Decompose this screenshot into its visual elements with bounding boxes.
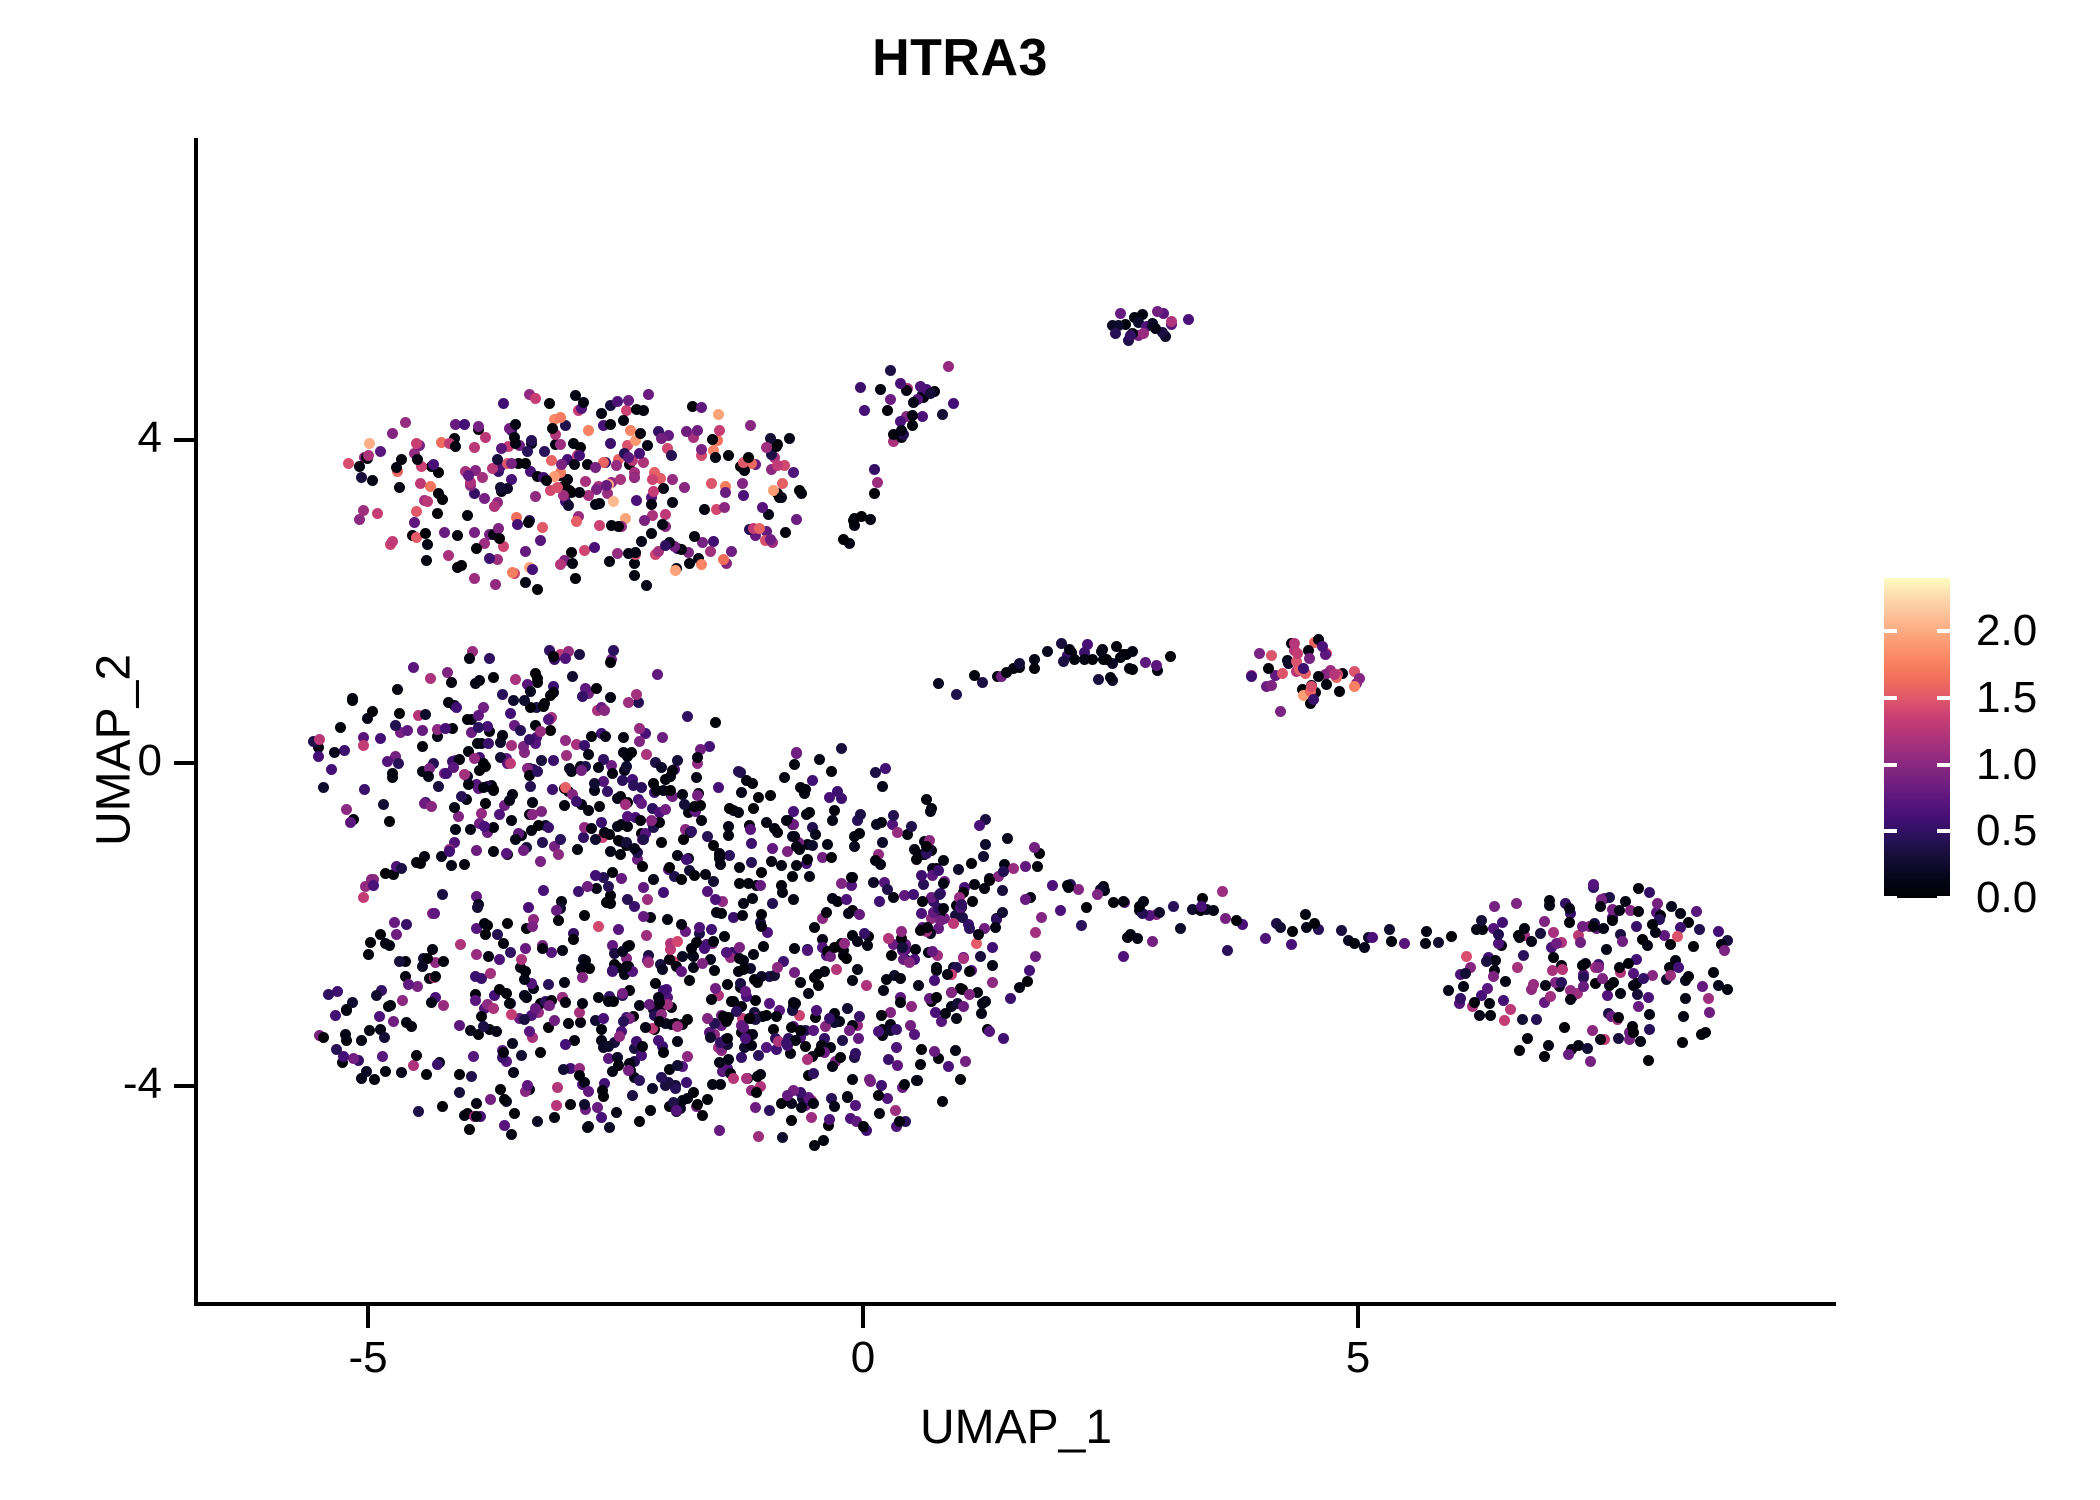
scatter-point [1628, 1027, 1639, 1038]
scatter-point [802, 945, 813, 956]
scatter-point [1175, 923, 1186, 934]
scatter-point [459, 769, 470, 780]
scatter-point [636, 536, 647, 547]
scatter-point [537, 943, 548, 954]
scatter-point [679, 482, 690, 493]
scatter-point [422, 539, 433, 550]
scatter-point [980, 839, 991, 850]
scatter-point [734, 862, 745, 873]
scatter-point [877, 781, 888, 792]
scatter-point [618, 1016, 629, 1027]
scatter-point [666, 450, 677, 461]
scatter-point [660, 540, 671, 551]
scatter-point [592, 1102, 603, 1113]
scatter-point [733, 807, 744, 818]
scatter-point [1565, 994, 1576, 1005]
scatter-point [648, 486, 659, 497]
scatter-point [767, 843, 778, 854]
scatter-point [559, 977, 570, 988]
scatter-point [598, 1091, 609, 1102]
scatter-point [1096, 646, 1107, 657]
scatter-point [433, 781, 444, 792]
scatter-point [1260, 933, 1271, 944]
scatter-point [847, 1074, 858, 1085]
colorbar-tick [1937, 629, 1950, 633]
scatter-point [646, 528, 657, 539]
scatter-point [574, 649, 585, 660]
y-tick-mark [174, 1084, 196, 1088]
scatter-point [875, 384, 886, 395]
scatter-point [568, 934, 579, 945]
scatter-point [710, 717, 721, 728]
scatter-point [648, 874, 659, 885]
scatter-point [1058, 656, 1069, 667]
scatter-point [736, 787, 747, 798]
scatter-point [471, 949, 482, 960]
scatter-point [948, 398, 959, 409]
scatter-point [795, 977, 806, 988]
scatter-point [906, 821, 917, 832]
scatter-point [940, 1008, 951, 1019]
scatter-point [509, 1108, 520, 1119]
scatter-point [691, 772, 702, 783]
scatter-point [450, 441, 461, 452]
scatter-point [824, 1114, 835, 1125]
scatter-point [1029, 663, 1040, 674]
scatter-point [510, 419, 521, 430]
scatter-point [789, 759, 800, 770]
scatter-point [437, 494, 448, 505]
scatter-point [605, 692, 616, 703]
scatter-point [408, 662, 419, 673]
scatter-point [869, 464, 880, 475]
scatter-point [379, 1032, 390, 1043]
scatter-point [555, 834, 566, 845]
scatter-point [473, 710, 484, 721]
scatter-point [1615, 988, 1626, 999]
scatter-point [560, 997, 571, 1008]
scatter-point [627, 1090, 638, 1101]
scatter-point [708, 536, 719, 547]
scatter-point [1597, 973, 1608, 984]
scatter-point [657, 964, 668, 975]
scatter-point [1548, 927, 1559, 938]
scatter-point [443, 550, 454, 561]
scatter-point [909, 1029, 920, 1040]
scatter-point [1277, 668, 1288, 679]
scatter-point [634, 723, 645, 734]
color-legend[interactable] [1884, 578, 1950, 898]
scatter-point [559, 800, 570, 811]
scatter-point [339, 745, 350, 756]
scatter-point [777, 887, 788, 898]
scatter-point [452, 562, 463, 573]
y-tick-label: -4 [0, 1062, 162, 1106]
scatter-point [1308, 694, 1319, 705]
scatter-point [574, 1070, 585, 1081]
scatter-point [1557, 964, 1568, 975]
scatter-point [387, 772, 398, 783]
scatter-point [415, 858, 426, 869]
scatter-point [937, 409, 948, 420]
scatter-point [621, 961, 632, 972]
scatter-point [422, 496, 433, 507]
scatter-point [1266, 650, 1277, 661]
scatter-point [494, 809, 505, 820]
colorbar-tick [1937, 896, 1950, 900]
scatter-point [765, 534, 776, 545]
scatter-point [943, 1061, 954, 1072]
scatter-point [737, 910, 748, 921]
scatter-point [891, 1042, 902, 1053]
scatter-point [611, 460, 622, 471]
scatter-point [1309, 918, 1320, 929]
scatter-point [772, 962, 783, 973]
scatter-point [561, 750, 572, 761]
scatter-point [446, 677, 457, 688]
scatter-point [1029, 842, 1040, 853]
scatter-point [526, 435, 537, 446]
scatter-point [777, 478, 788, 489]
scatter-point [964, 989, 975, 1000]
scatter-point [323, 989, 334, 1000]
scatter-point [908, 397, 919, 408]
scatter-point [1643, 1055, 1654, 1066]
scatter-point [706, 994, 717, 1005]
scatter-point [313, 751, 324, 762]
scatter-point [804, 807, 815, 818]
scatter-point [387, 536, 398, 547]
scatter-point [821, 907, 832, 918]
scatter-point [1543, 1040, 1554, 1051]
scatter-point [1471, 924, 1482, 935]
scatter-point [764, 1105, 775, 1116]
scatter-point [641, 580, 652, 591]
scatter-point [1652, 898, 1663, 909]
scatter-point [807, 775, 818, 786]
scatter-point [625, 425, 636, 436]
scatter-point [553, 849, 564, 860]
scatter-point [874, 1108, 885, 1119]
scatter-point [560, 1039, 571, 1050]
scatter-point [1105, 672, 1116, 683]
scatter-point [948, 918, 959, 929]
scatter-point [544, 1000, 555, 1011]
scatter-point [356, 472, 367, 483]
scatter-point [897, 942, 908, 953]
scatter-point [1522, 1033, 1533, 1044]
x-tick-label: -5 [288, 1336, 448, 1380]
scatter-point [637, 861, 648, 872]
scatter-point [696, 559, 707, 570]
scatter-point [437, 1101, 448, 1112]
scatter-point [1386, 936, 1397, 947]
x-tick-mark [861, 1306, 865, 1328]
scatter-point [469, 753, 480, 764]
scatter-point [1644, 1024, 1655, 1035]
scatter-point [375, 733, 386, 744]
scatter-point [743, 452, 754, 463]
scatter-point [1585, 1056, 1596, 1067]
scatter-point [626, 747, 637, 758]
scatter-point [967, 896, 978, 907]
scatter-point [779, 772, 790, 783]
colorbar-tick [1937, 763, 1950, 767]
scatter-point [611, 1107, 622, 1118]
scatter-point [464, 1124, 475, 1135]
page-title: HTRA3 [0, 28, 2100, 88]
scatter-point [490, 579, 501, 590]
scatter-point [953, 864, 964, 875]
y-tick-mark [174, 761, 196, 765]
scatter-point [1036, 912, 1047, 923]
scatter-point [699, 504, 710, 515]
scatter-point [1222, 945, 1233, 956]
scatter-point [753, 1131, 764, 1142]
scatter-point [599, 705, 610, 716]
scatter-point [660, 509, 671, 520]
scatter-point [557, 945, 568, 956]
scatter-point [560, 735, 571, 746]
scatter-point [371, 990, 382, 1001]
scatter-point [788, 467, 799, 478]
scatter-point [696, 402, 707, 413]
scatter-point [715, 859, 726, 870]
scatter-point [728, 1073, 739, 1084]
scatter-point [643, 389, 654, 400]
scatter-point [607, 1066, 618, 1077]
scatter-point [964, 966, 975, 977]
scatter-point [827, 815, 838, 826]
scatter-point [464, 653, 475, 664]
scatter-point [484, 653, 495, 664]
scatter-point [594, 801, 605, 812]
scatter-point [736, 1052, 747, 1063]
scatter-point [741, 1073, 752, 1084]
scatter-point [368, 880, 379, 891]
scatter-point [506, 740, 517, 751]
scatter-point [558, 1064, 569, 1075]
scatter-point [454, 1020, 465, 1031]
scatter-point [1485, 1010, 1496, 1021]
scatter-point [459, 859, 470, 870]
scatter-point [699, 943, 710, 954]
scatter-point [471, 845, 482, 856]
scatter-point [916, 1044, 927, 1055]
scatter-point [689, 531, 700, 542]
scatter-point [1042, 646, 1053, 657]
scatter-point [1384, 924, 1395, 935]
scatter-point [653, 992, 664, 1003]
scatter-point [652, 669, 663, 680]
scatter-point [1022, 976, 1033, 987]
scatter-point [1151, 660, 1162, 671]
scatter-point [672, 755, 683, 766]
scatter-point [620, 799, 631, 810]
scatter-point [583, 749, 594, 760]
scatter-point [563, 1018, 574, 1029]
colorbar-tick-label: 1.5 [1976, 676, 2037, 720]
scatter-point [624, 940, 635, 951]
scatter-point [852, 964, 863, 975]
scatter-point [984, 1026, 995, 1037]
scatter-point [771, 1011, 782, 1022]
scatter-point [537, 837, 548, 848]
scatter-point [1499, 1015, 1510, 1026]
scatter-point [380, 868, 391, 879]
scatter-point [849, 841, 860, 852]
scatter-point [726, 996, 737, 1007]
scatter-point [647, 1083, 658, 1094]
scatter-point [359, 784, 370, 795]
scatter-point [1595, 1034, 1606, 1045]
scatter-point [787, 871, 798, 882]
scatter-point [520, 577, 531, 588]
scatter-point [480, 798, 491, 809]
scatter-point [519, 1014, 530, 1025]
plot-root: HTRA3 40-4 -505 UMAP_1 UMAP_2 2.01.51.00… [0, 0, 2100, 1500]
scatter-point [705, 1032, 716, 1043]
scatter-point [1633, 906, 1644, 917]
scatter-point [1138, 328, 1149, 339]
scatter-point [1266, 680, 1277, 691]
scatter-point [767, 898, 778, 909]
scatter-point [738, 490, 749, 501]
scatter-point [518, 845, 529, 856]
scatter-point [1497, 917, 1508, 928]
scatter-point [448, 762, 459, 773]
scatter-point [872, 477, 883, 488]
scatter-point [723, 450, 734, 461]
scatter-point [837, 1035, 848, 1046]
scatter-point [642, 894, 653, 905]
scatter-point [747, 778, 758, 789]
scatter-point [394, 956, 405, 967]
scatter-point [740, 986, 751, 997]
scatter-point [819, 966, 830, 977]
scatter-point [569, 1035, 580, 1046]
scatter-point [660, 774, 671, 785]
scatter-point [1719, 945, 1730, 956]
scatter-point [480, 432, 491, 443]
scatter-point [671, 1105, 682, 1116]
scatter-point [530, 491, 541, 502]
scatter-point [607, 867, 618, 878]
scatter-point [1498, 995, 1509, 1006]
scatter-point [791, 514, 802, 525]
scatter-point [541, 475, 552, 486]
x-tick-label: 5 [1278, 1336, 1438, 1380]
scatter-point [1115, 308, 1126, 319]
scatter-point [502, 918, 513, 929]
scatter-point [1359, 942, 1370, 953]
scatter-point [723, 821, 734, 832]
scatter-point [1076, 920, 1087, 931]
scatter-point [809, 1140, 820, 1151]
scatter-point [646, 499, 657, 510]
scatter-point [931, 962, 942, 973]
scatter-point [1125, 330, 1136, 341]
scatter-point [601, 480, 612, 491]
scatter-point [432, 508, 443, 519]
scatter-point [571, 796, 582, 807]
scatter-point [499, 1120, 510, 1131]
scatter-point [966, 858, 977, 869]
scatter-point [1275, 922, 1286, 933]
scatter-point [396, 863, 407, 874]
scatter-point [998, 1033, 1009, 1044]
scatter-point [642, 440, 653, 451]
scatter-point [786, 1022, 797, 1033]
scatter-point [895, 973, 906, 984]
scatter-point [613, 924, 624, 935]
scatter-point [1289, 638, 1300, 649]
colorbar-tick [1884, 629, 1897, 633]
scatter-point [822, 839, 833, 850]
scatter-point [755, 880, 766, 891]
scatter-point [586, 823, 597, 834]
scatter-point [869, 488, 880, 499]
scatter-point [772, 827, 783, 838]
scatter-point [1607, 915, 1618, 926]
scatter-point [412, 981, 423, 992]
scatter-point [806, 1112, 817, 1123]
scatter-point [358, 892, 369, 903]
scatter-point [1608, 977, 1619, 988]
scatter-point [358, 740, 369, 751]
scatter-point [885, 1007, 896, 1018]
scatter-point [428, 459, 439, 470]
scatter-point [1069, 654, 1080, 665]
scatter-point [969, 670, 980, 681]
scatter-point [552, 482, 563, 493]
scatter-point [641, 749, 652, 760]
scatter-point [877, 837, 888, 848]
scatter-point [1643, 992, 1654, 1003]
scatter-point [850, 1100, 861, 1111]
scatter-point [488, 846, 499, 857]
scatter-point [1613, 1012, 1624, 1023]
scatter-point [354, 514, 365, 525]
scatter-point [984, 875, 995, 886]
scatter-point [933, 865, 944, 876]
scatter-point [842, 1003, 853, 1014]
scatter-point [746, 838, 757, 849]
scatter-point [641, 930, 652, 941]
scatter-point [1588, 879, 1599, 890]
scatter-point [748, 949, 759, 960]
scatter-point [1118, 951, 1129, 962]
scatter-point [854, 828, 865, 839]
scatter-point [885, 365, 896, 376]
scatter-point [505, 708, 516, 719]
scatter-point [476, 808, 487, 819]
scatter-point [589, 778, 600, 789]
scatter-point [800, 1041, 811, 1052]
scatter-point [331, 1044, 342, 1055]
scatter-point [694, 922, 705, 933]
scatter-point [765, 790, 776, 801]
scatter-point [450, 824, 461, 835]
scatter-point [430, 971, 441, 982]
scatter-point [807, 840, 818, 851]
scatter-point [567, 558, 578, 569]
scatter-point [1678, 1011, 1689, 1022]
scatter-point [523, 902, 534, 913]
scatter-point [607, 965, 618, 976]
scatter-point [363, 450, 374, 461]
scatter-point [365, 937, 376, 948]
